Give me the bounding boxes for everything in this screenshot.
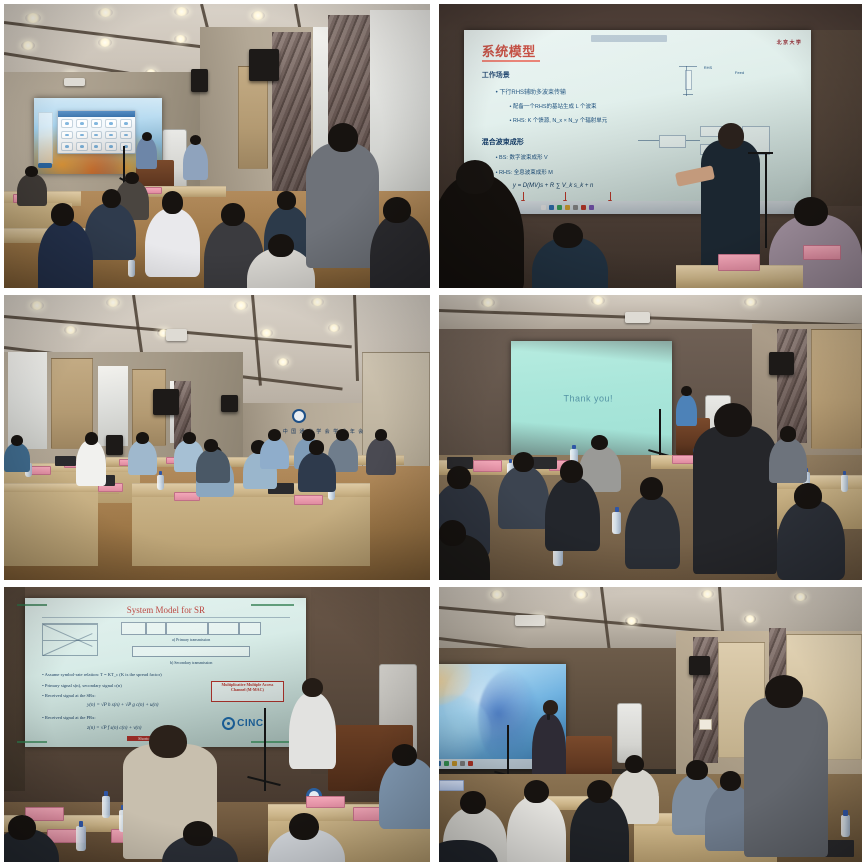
audience-head (268, 429, 281, 441)
audience-head (11, 435, 23, 446)
ceiling-projector (515, 615, 545, 626)
presenter (136, 137, 157, 168)
taskbar-icon[interactable] (581, 205, 586, 210)
slide-section-heading: 工作场景 (482, 70, 510, 80)
taskbar-icon[interactable] (444, 761, 449, 766)
diagram-line (686, 140, 700, 141)
audience-head (686, 760, 707, 779)
slide-icon (91, 131, 103, 139)
ceiling-light (106, 298, 120, 307)
audience-head (328, 123, 358, 151)
presenter (532, 714, 566, 780)
taskbar-icon[interactable] (557, 205, 562, 210)
desk-front (132, 497, 371, 565)
audience-head (25, 166, 38, 177)
audience-head (720, 771, 741, 790)
desk-nameplate (473, 460, 503, 471)
slide-bullet: RHS: 全息波束成形 M (496, 168, 553, 176)
water-bottle (841, 475, 849, 492)
table-cell (208, 622, 239, 635)
taskbar-icon[interactable] (460, 761, 465, 766)
slide-bullet: Received signal at the PRx: (42, 715, 96, 720)
taskbar-icon[interactable] (468, 761, 473, 766)
photo-middle-left[interactable]: 中 国 通 信 学 会 学 术 年 会 (4, 295, 430, 580)
slide-bullet: Primary signal s(n), secondary signal c(… (42, 683, 122, 688)
desk-nameplate (306, 796, 344, 808)
slide-bullet: 下行RHS辅助多波束传输 (496, 87, 566, 96)
slide-icon (120, 131, 132, 139)
audience-head (204, 439, 218, 452)
diagram-frame-table (132, 646, 250, 658)
audience-member (76, 440, 106, 486)
wall-speaker (689, 656, 710, 675)
slide-icon (76, 131, 88, 139)
audience-member (379, 758, 430, 830)
diagram-line (683, 94, 693, 95)
wall-speaker (106, 435, 123, 455)
annotation-arrow (565, 192, 566, 201)
audience-head (553, 223, 583, 249)
wall-speaker (221, 395, 238, 412)
desk-front (4, 492, 98, 566)
water-bottle (102, 796, 111, 818)
audience-member (298, 452, 336, 492)
wall-speaker (249, 49, 279, 80)
audience-head (447, 466, 470, 489)
slide-formula: y = D(MV)s + R ∑ V_k s_k + n (513, 183, 593, 189)
photo-top-left[interactable] (4, 4, 430, 288)
screen-corner-marker (17, 604, 47, 606)
diagram-antenna-panel (685, 70, 692, 90)
annotation-arrow (523, 192, 524, 201)
presenter (676, 395, 697, 426)
presenter (289, 692, 336, 769)
desk-nameplate (439, 780, 464, 791)
audience-member (17, 174, 47, 205)
audience-head (524, 780, 549, 803)
audience-head (560, 460, 583, 483)
diagram-line (43, 624, 97, 625)
table-cell (121, 622, 146, 635)
slide-icon (105, 142, 117, 150)
slide-bullet: BS: 数字波束成形 V (496, 153, 548, 161)
audience-head (8, 815, 36, 840)
slide-title: 系统模型 (482, 41, 536, 60)
ceiling-light (234, 301, 248, 310)
slide-thank-you-text: Thank you! (564, 393, 614, 403)
audience-head (277, 191, 296, 209)
audience-head (375, 429, 388, 441)
taskbar-icon[interactable] (565, 205, 570, 210)
slide-icon (61, 131, 73, 139)
photo-collage: 系统模型 北 京 大 学 工作场景 下行RHS辅助多波束传输 配备一个RHS的基… (0, 0, 862, 862)
audience-head (460, 791, 485, 814)
wall-panel (238, 66, 268, 168)
water-bottle (612, 512, 620, 535)
audience-head (513, 452, 534, 472)
ceiling-light (328, 324, 340, 332)
audience-member (196, 449, 230, 483)
laptop (532, 457, 557, 468)
diagram-label: RHS (704, 65, 712, 70)
audience-head (591, 435, 608, 451)
slide-bullet: RHS: K 个馈源, N_x × N_y 个辐射单元 (509, 116, 607, 124)
desk-nameplate (294, 495, 324, 505)
microphone-icon (547, 714, 550, 720)
camera-tripod (264, 708, 266, 791)
slide-icon (120, 142, 132, 150)
audience-member (85, 203, 136, 260)
audience-member (370, 214, 430, 288)
ceiling-light (30, 301, 44, 310)
slide-section-heading: 混合波束成形 (482, 137, 524, 147)
audience-head (136, 432, 149, 444)
wall-speaker (153, 389, 179, 415)
audience-head (309, 440, 324, 454)
presenter-head (142, 132, 152, 142)
audience-head (625, 755, 644, 773)
slide-icon (76, 119, 88, 127)
audience-head (765, 675, 803, 708)
photo-middle-right[interactable]: Thank you! (439, 295, 862, 580)
ceiling-light (701, 590, 714, 598)
diagram-caption: a) Primary transmission (121, 637, 262, 642)
audience-head (383, 197, 411, 223)
slide-primary-button (38, 163, 52, 168)
slide-icon (61, 119, 73, 127)
taskbar-icon[interactable] (452, 761, 457, 766)
audience-head (51, 203, 74, 226)
audience-member (260, 438, 290, 469)
ceiling-light (744, 615, 756, 623)
audience-head (392, 744, 418, 766)
desk-nameplate (803, 245, 841, 259)
camera-tripod (748, 152, 773, 154)
slide-bullet: 配备一个RHS的基站生成 L 个波束 (509, 102, 596, 110)
ceiling-light (574, 590, 588, 599)
wall-emblem (292, 409, 306, 423)
screen-header-strip (591, 35, 667, 42)
audience-head (149, 725, 187, 758)
audience-member-standing (693, 426, 778, 574)
slide-formula: z(n) = √P f s(n) c(n) + v(n) (87, 726, 141, 731)
ceiling-light (98, 38, 112, 47)
ceiling-light (490, 590, 504, 599)
audience-head (162, 191, 183, 214)
audience-head (125, 172, 139, 185)
cinc-logo: CINC (222, 717, 263, 730)
audience-member-standing (306, 143, 378, 268)
cinc-logo-text: CINC (237, 718, 263, 729)
presenter-head (681, 386, 691, 396)
ceiling-light (25, 13, 41, 23)
diagram-line (638, 140, 659, 141)
ceiling-light (260, 329, 273, 337)
audience-head (780, 426, 797, 442)
water-bottle (841, 815, 850, 837)
slide-icon (105, 131, 117, 139)
water-bottle (76, 826, 85, 851)
audience-head (102, 189, 121, 209)
audience-head (302, 429, 315, 441)
table-cell (132, 646, 250, 658)
screen-corner-marker (251, 604, 294, 606)
slide-icon (91, 119, 103, 127)
ceiling-projector (166, 329, 187, 340)
audience-head (439, 520, 466, 546)
table-cell (166, 622, 208, 635)
marble-column (777, 329, 807, 443)
slide-icon (105, 119, 117, 127)
diagram-label: Feed (735, 70, 744, 75)
diagram-caption: b) Secondary transmission (121, 660, 262, 665)
audience-head (221, 203, 244, 226)
audience-head (85, 432, 98, 445)
slide-icon-grid (61, 119, 132, 150)
slide-bullet: Received signal at the SRx: (42, 693, 96, 698)
ceiling-light (311, 298, 324, 306)
audience-head (336, 429, 349, 441)
podium (566, 736, 613, 780)
laptop (55, 456, 76, 466)
presenter-head (302, 678, 323, 697)
audience-head (183, 432, 196, 444)
water-bottle (128, 260, 136, 277)
slide-sidebar (38, 112, 53, 164)
diagram-frame-table (121, 622, 262, 635)
wall-socket (699, 719, 712, 730)
taskbar-icon[interactable] (549, 205, 554, 210)
screen-corner-marker (251, 741, 294, 743)
audience-head (587, 780, 612, 803)
audience-head (794, 483, 821, 509)
slide-title: System Model for SR (25, 605, 306, 615)
ceiling-light (481, 298, 495, 307)
institution-logo: 北 京 大 学 (777, 39, 801, 46)
ceiling-projector (625, 312, 650, 323)
audience-member (4, 443, 30, 472)
wall-panel (811, 329, 862, 449)
slide-formula: y(n) = √P h s(n) + √P g c(n) + u(n) (87, 703, 158, 708)
wall-speaker (769, 352, 794, 375)
audience-member (570, 796, 629, 862)
audience-member (128, 440, 158, 474)
diagram-line (679, 66, 696, 67)
audience-member (769, 438, 807, 484)
taskbar-icon[interactable] (541, 205, 546, 210)
audience-head (714, 403, 752, 437)
slide-icon (91, 142, 103, 150)
audience-head (183, 821, 213, 846)
audience-member (545, 477, 600, 551)
audience-member-standing (744, 697, 829, 857)
taskbar-icon[interactable] (589, 205, 594, 210)
audience-member (777, 500, 845, 580)
taskbar-icon[interactable] (573, 205, 578, 210)
photo-bottom-left[interactable]: System Model for SR (4, 587, 430, 862)
audience-head (289, 813, 319, 841)
callout-box: Multiplicative Multiple Access Channel (… (211, 681, 284, 702)
desk-nameplate (30, 466, 51, 475)
audience-member (366, 438, 396, 475)
audience-member (507, 796, 566, 862)
ceiling-light (744, 298, 757, 306)
desk-nameplate (718, 254, 760, 271)
screen-corner-marker (17, 741, 47, 743)
camera-tripod (765, 152, 767, 249)
presenter-head (543, 700, 558, 715)
audience-head (794, 197, 828, 225)
slide-icon (61, 142, 73, 150)
ceiling-light (21, 41, 35, 50)
audience-member (145, 208, 200, 276)
presenter-head (718, 123, 743, 149)
ceiling-light (794, 593, 807, 601)
diagram-line (43, 640, 97, 641)
water-bottle (157, 475, 164, 491)
cinc-ring-icon (222, 717, 235, 730)
ceiling-projector (64, 78, 85, 87)
audience-member (498, 466, 549, 529)
slide-window-titlebar (58, 111, 135, 117)
table-cell (239, 622, 261, 635)
table-cell (146, 622, 166, 635)
slide-icon (120, 119, 132, 127)
slide-icon (76, 142, 88, 150)
presenter-head (190, 135, 201, 145)
slide-bullet: Assume symbol-rate relation: T = KT_c (K… (42, 672, 162, 677)
diagram-channel-grid (42, 623, 98, 656)
audience-head (268, 234, 294, 257)
presenter (183, 143, 209, 180)
wall-panel (811, 30, 862, 206)
photo-top-right[interactable]: 系统模型 北 京 大 学 工作场景 下行RHS辅助多波束传输 配备一个RHS的基… (439, 4, 862, 288)
wall-speaker (191, 69, 208, 92)
annotation-arrow (610, 192, 611, 201)
presenter (701, 140, 760, 271)
audience-member (625, 495, 680, 569)
wall-panel (4, 587, 25, 791)
photo-bottom-right[interactable] (439, 587, 862, 862)
window (370, 10, 430, 197)
audience-head (640, 477, 663, 500)
taskbar-icon[interactable] (439, 761, 441, 766)
air-conditioner (617, 703, 642, 764)
diagram-block (659, 135, 687, 148)
ceiling-light (277, 358, 289, 366)
audience-head (456, 160, 494, 194)
